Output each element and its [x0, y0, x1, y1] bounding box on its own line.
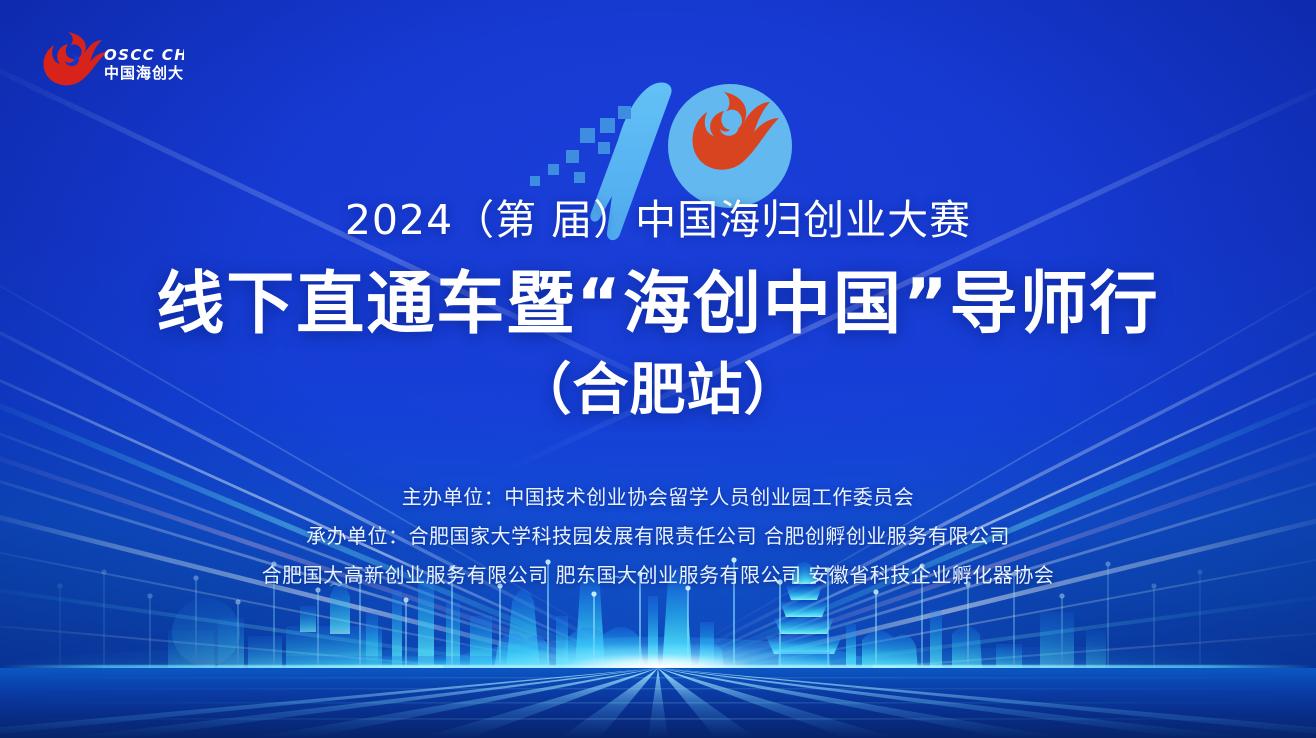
organizer-line-coorg-2: 合肥国大高新创业服务有限公司 肥东国大创业服务有限公司 安徽省科技企业孵化器协会 [0, 556, 1316, 595]
main-headline: 线下直通车暨“海创中国”导师行 [0, 268, 1316, 341]
organizer-block: 主办单位：中国技术创业协会留学人员创业园工作委员会 承办单位：合肥国家大学科技园… [0, 478, 1316, 595]
year-edition-line: 2024（第 届）中国海归创业大赛 [0, 198, 1316, 243]
zero-disc [668, 84, 792, 208]
poster-canvas: OSCC CHINA 中国海创大赛 [0, 0, 1316, 738]
poster-content: 2024（第 届）中国海归创业大赛 线下直通车暨“海创中国”导师行 （合肥站） … [0, 0, 1316, 738]
city-subtitle: （合肥站） [0, 360, 1316, 422]
pixel-squares [530, 106, 631, 186]
flame-emblem-icon [692, 92, 779, 170]
organizer-line-coorg-1: 承办单位：合肥国家大学科技园发展有限责任公司 合肥创孵创业服务有限公司 [0, 517, 1316, 556]
organizer-line-host: 主办单位：中国技术创业协会留学人员创业园工作委员会 [0, 478, 1316, 517]
